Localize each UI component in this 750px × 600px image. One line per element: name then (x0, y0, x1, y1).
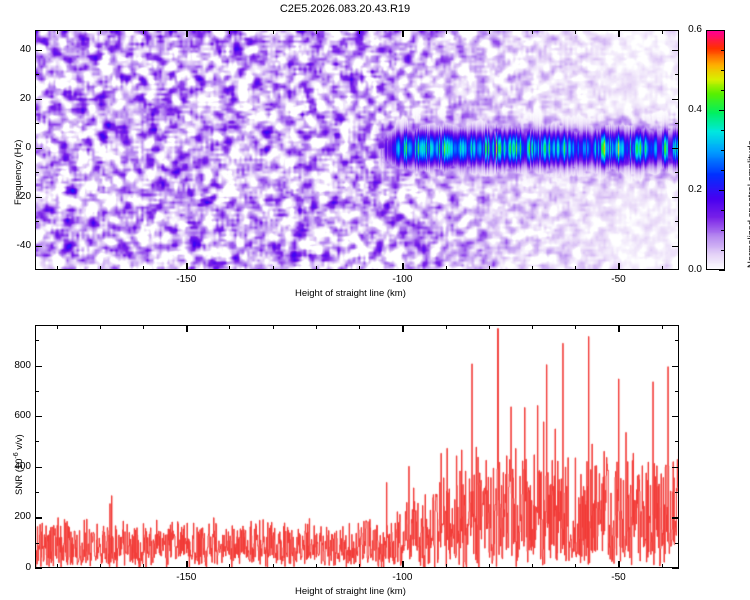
ytick-label: 400 (0, 461, 31, 472)
xtick-minor-top (143, 30, 144, 34)
ytick-minor-right (675, 492, 679, 493)
ytick-minor-right (675, 172, 679, 173)
colorbar-tick-major (719, 30, 725, 31)
colorbar-tick-minor (721, 70, 725, 71)
ytick-major (35, 467, 42, 468)
colorbar-tick-minor (721, 250, 725, 251)
xtick-major (402, 561, 403, 568)
xtick-major (186, 263, 187, 270)
xtick-minor (273, 564, 274, 568)
xtick-minor-top (575, 30, 576, 34)
xtick-minor-top (359, 325, 360, 329)
ytick-major (35, 517, 42, 518)
xtick-label: -50 (596, 274, 640, 285)
xtick-minor-top (489, 325, 490, 329)
ytick-major-right (672, 517, 679, 518)
xtick-minor-top (575, 325, 576, 329)
xtick-minor-top (273, 30, 274, 34)
xtick-minor (316, 266, 317, 270)
xtick-minor (143, 266, 144, 270)
xtick-minor (229, 564, 230, 568)
xtick-minor (575, 266, 576, 270)
ytick-major-right (672, 197, 679, 198)
xtick-minor (229, 266, 230, 270)
xtick-major (186, 561, 187, 568)
ytick-label: 800 (0, 360, 31, 371)
xtick-minor (359, 266, 360, 270)
xtick-minor (489, 564, 490, 568)
colorbar-tick-label: 0.6 (672, 24, 702, 35)
xtick-minor-top (446, 30, 447, 34)
colorbar-tick-major (719, 270, 725, 271)
ytick-major (35, 50, 42, 51)
colorbar-tick-minor (721, 130, 725, 131)
ytick-major-right (672, 416, 679, 417)
ytick-label: -40 (0, 240, 31, 251)
ytick-minor-right (675, 221, 679, 222)
ytick-major (35, 416, 42, 417)
snr-ylabel-exponent: -6 (13, 452, 20, 458)
xtick-label: -100 (380, 274, 424, 285)
ytick-major (35, 99, 42, 100)
xtick-label: -50 (596, 572, 640, 583)
xtick-major-top (186, 325, 187, 332)
spectrogram-plot-area (35, 30, 679, 270)
xtick-major-top (402, 30, 403, 37)
xtick-minor (316, 564, 317, 568)
xtick-minor-top (446, 325, 447, 329)
colorbar-tick-minor (721, 50, 725, 51)
ytick-major (35, 148, 42, 149)
colorbar-label: Normalized spectral amplitude (746, 140, 750, 268)
xtick-minor (662, 266, 663, 270)
xtick-major (618, 561, 619, 568)
ytick-minor (35, 492, 39, 493)
xtick-major-top (402, 325, 403, 332)
xtick-minor (446, 564, 447, 568)
xtick-minor (359, 564, 360, 568)
figure-title: C2E5.2026.083.20.43.R19 (0, 3, 690, 15)
ytick-minor-right (675, 123, 679, 124)
ytick-major-right (672, 246, 679, 247)
xtick-minor-top (359, 30, 360, 34)
ytick-label: 0 (0, 562, 31, 573)
ytick-label: 0 (0, 142, 31, 153)
xtick-minor (575, 564, 576, 568)
xtick-major-top (618, 30, 619, 37)
xtick-minor (662, 564, 663, 568)
xtick-minor (273, 266, 274, 270)
ytick-label: 200 (0, 511, 31, 522)
xtick-minor-top (662, 30, 663, 34)
spectrogram-xlabel: Height of straight line (km) (295, 288, 406, 299)
ytick-major-right (672, 366, 679, 367)
xtick-major-top (186, 30, 187, 37)
xtick-minor-top (57, 325, 58, 329)
xtick-label: -150 (164, 572, 208, 583)
spectrogram-image (36, 31, 679, 270)
xtick-minor-top (229, 30, 230, 34)
xtick-minor-top (316, 30, 317, 34)
xtick-minor-top (662, 325, 663, 329)
colorbar-tick-major (719, 190, 725, 191)
xtick-minor (100, 266, 101, 270)
xtick-minor-top (229, 325, 230, 329)
ytick-minor (35, 74, 39, 75)
ytick-major-right (672, 50, 679, 51)
colorbar-tick-minor (721, 230, 725, 231)
colorbar-tick-minor (721, 170, 725, 171)
ytick-major-right (672, 568, 679, 569)
xtick-minor (489, 266, 490, 270)
ytick-label: 600 (0, 410, 31, 421)
xtick-minor (143, 564, 144, 568)
ytick-major-right (672, 148, 679, 149)
ytick-minor-right (675, 441, 679, 442)
xtick-minor (57, 564, 58, 568)
ytick-minor-right (675, 543, 679, 544)
xtick-minor (532, 266, 533, 270)
ytick-minor (35, 123, 39, 124)
xtick-minor-top (316, 325, 317, 329)
ytick-minor-right (675, 340, 679, 341)
ytick-major-right (672, 467, 679, 468)
xtick-minor-top (489, 30, 490, 34)
xtick-minor-top (100, 30, 101, 34)
xtick-minor-top (57, 30, 58, 34)
xtick-major (402, 263, 403, 270)
xtick-minor-top (100, 325, 101, 329)
xtick-minor (100, 564, 101, 568)
colorbar-tick-minor (721, 210, 725, 211)
ytick-minor (35, 221, 39, 222)
xtick-label: -100 (380, 572, 424, 583)
ytick-label: 20 (0, 93, 31, 104)
ytick-minor (35, 441, 39, 442)
figure-root: C2E5.2026.083.20.43.R19 Frequency (Hz) H… (0, 0, 750, 600)
ytick-minor-right (675, 74, 679, 75)
ytick-label: -20 (0, 191, 31, 202)
ytick-major (35, 246, 42, 247)
xtick-major (618, 263, 619, 270)
xtick-major-top (618, 325, 619, 332)
xtick-minor-top (273, 325, 274, 329)
colorbar-tick-label: 0.2 (672, 184, 702, 195)
colorbar-tick-label: 0.0 (672, 264, 702, 275)
ytick-minor (35, 340, 39, 341)
xtick-minor (446, 266, 447, 270)
colorbar-tick-minor (721, 90, 725, 91)
ytick-minor (35, 172, 39, 173)
xtick-minor-top (532, 30, 533, 34)
ytick-major (35, 568, 42, 569)
ytick-major (35, 197, 42, 198)
snr-trace-line (36, 326, 679, 568)
snr-ylabel-suffix: v/v) (14, 434, 25, 452)
colorbar-tick-minor (721, 150, 725, 151)
xtick-label: -150 (164, 274, 208, 285)
colorbar-tick-label: 0.4 (672, 104, 702, 115)
snr-xlabel: Height of straight line (km) (295, 586, 406, 597)
xtick-minor (532, 564, 533, 568)
xtick-minor (57, 266, 58, 270)
ytick-minor-right (675, 391, 679, 392)
ytick-major (35, 366, 42, 367)
snr-plot-area (35, 325, 679, 568)
xtick-minor-top (143, 325, 144, 329)
ytick-label: 40 (0, 44, 31, 55)
ytick-major-right (672, 99, 679, 100)
ytick-minor (35, 543, 39, 544)
ytick-minor (35, 391, 39, 392)
colorbar-tick-major (719, 110, 725, 111)
xtick-minor-top (532, 325, 533, 329)
